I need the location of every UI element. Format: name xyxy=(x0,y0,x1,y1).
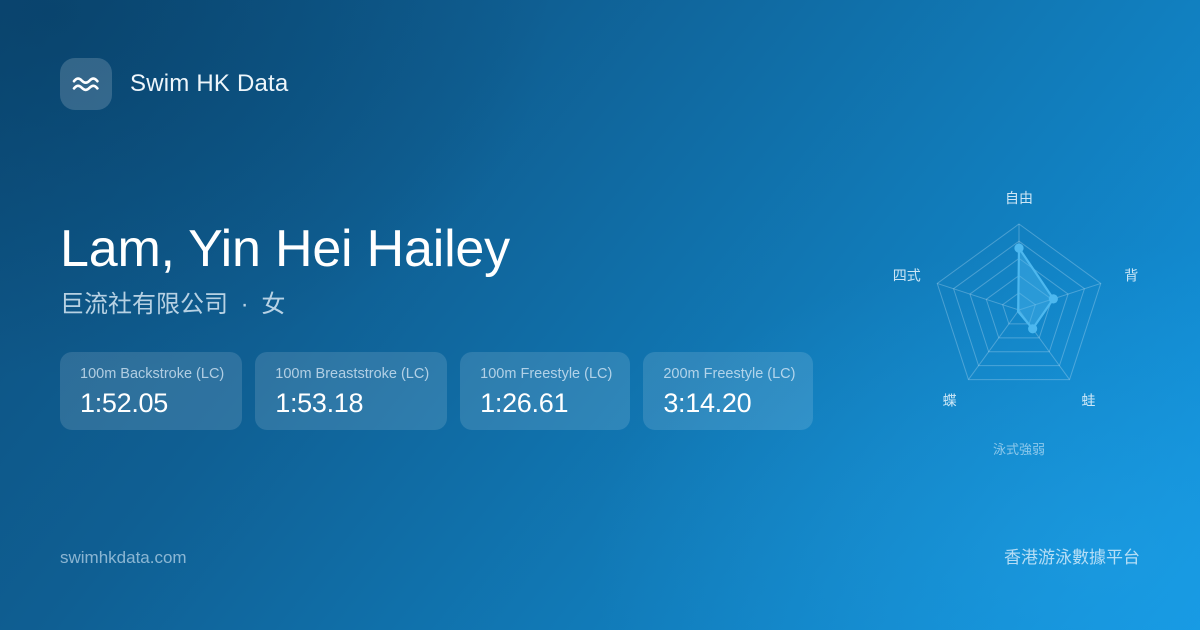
stat-card: 100m Breaststroke (LC) 1:53.18 xyxy=(255,352,447,430)
athlete-meta: 巨流社有限公司 · 女 xyxy=(60,290,510,320)
brand: Swim HK Data xyxy=(60,58,288,110)
athlete-club: 巨流社有限公司 xyxy=(60,291,228,318)
stat-card: 200m Freestyle (LC) 3:14.20 xyxy=(643,352,813,430)
radar-axis-label: 自由 xyxy=(1005,190,1033,206)
wave-approx-icon xyxy=(60,58,112,110)
stat-card-value: 1:53.18 xyxy=(275,387,429,420)
brand-name: Swim HK Data xyxy=(130,70,288,98)
stat-card-value: 1:26.61 xyxy=(480,387,612,420)
radar-chart-caption: 泳式強弱 xyxy=(869,441,1169,459)
radar-axis-label: 背 xyxy=(1124,267,1138,283)
stat-card-label: 100m Breaststroke (LC) xyxy=(275,365,429,383)
stat-card-label: 100m Freestyle (LC) xyxy=(480,365,612,383)
athlete-gender: 女 xyxy=(261,291,285,318)
stat-card-value: 3:14.20 xyxy=(663,387,795,420)
stat-card-value: 1:52.05 xyxy=(80,387,224,420)
stat-card-label: 200m Freestyle (LC) xyxy=(663,365,795,383)
stat-card-label: 100m Backstroke (LC) xyxy=(80,365,224,383)
athlete-header: Lam, Yin Hei Hailey 巨流社有限公司 · 女 xyxy=(60,218,510,320)
page-title: Lam, Yin Hei Hailey xyxy=(60,218,510,280)
radar-axis-label: 四式 xyxy=(893,267,921,283)
stat-card: 100m Freestyle (LC) 1:26.61 xyxy=(460,352,630,430)
radar-chart: 自由背蛙蝶四式 xyxy=(869,170,1169,470)
footer-tagline: 香港游泳數據平台 xyxy=(1004,546,1140,570)
stat-card-list: 100m Backstroke (LC) 1:52.05 100m Breast… xyxy=(60,352,813,430)
radar-axis-label: 蝶 xyxy=(943,393,957,409)
footer-site: swimhkdata.com xyxy=(60,546,187,570)
radar-axis-label: 蛙 xyxy=(1081,393,1095,409)
stat-card: 100m Backstroke (LC) 1:52.05 xyxy=(60,352,242,430)
og-card: Swim HK Data Lam, Yin Hei Hailey 巨流社有限公司… xyxy=(0,0,1200,630)
meta-separator: · xyxy=(235,291,255,318)
